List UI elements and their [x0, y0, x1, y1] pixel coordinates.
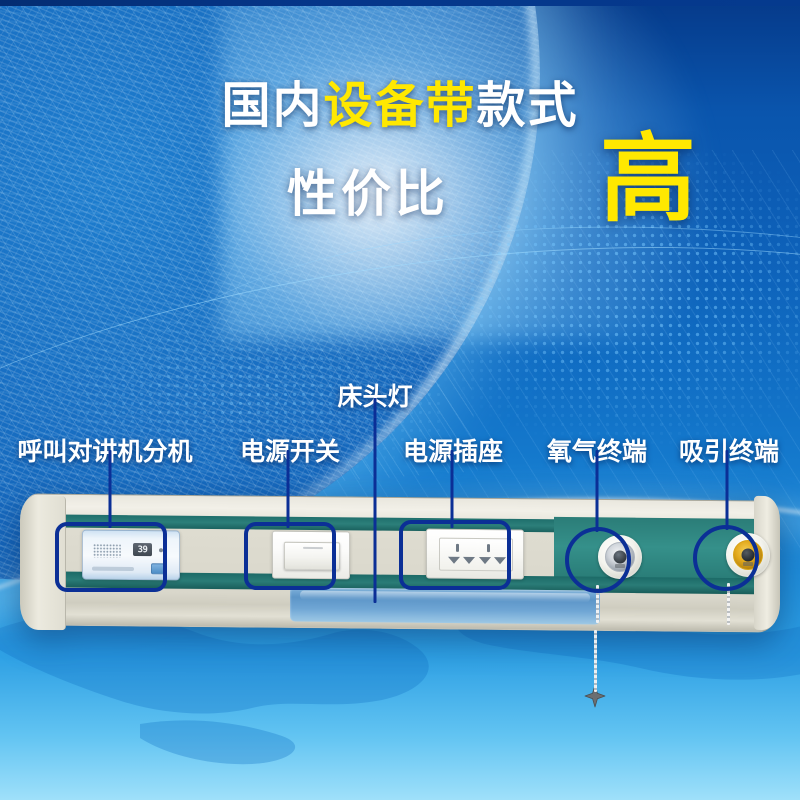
callout-layer: 呼叫对讲机分机 电源开关 床头灯 电源插座 氧气终端 吸引终端 [0, 0, 800, 800]
leader-line-bed-lamp [374, 398, 377, 603]
callout-label-nurse-call-intercom: 呼叫对讲机分机 [17, 432, 192, 468]
promo-banner-stage: 国内设备带款式 性价比 高 呼叫对讲机分机 电源开关 床头灯 电源插座 氧气终端… [0, 0, 800, 800]
leader-line-suction-terminal [726, 450, 729, 530]
leader-line-power-switch [287, 450, 290, 528]
leader-line-oxygen-terminal [596, 450, 599, 532]
callout-label-suction-terminal: 吸引终端 [679, 432, 779, 468]
leader-line-power-socket [451, 450, 454, 528]
leader-line-nurse-call-intercom [109, 450, 112, 528]
callout-label-power-switch: 电源开关 [240, 432, 340, 468]
